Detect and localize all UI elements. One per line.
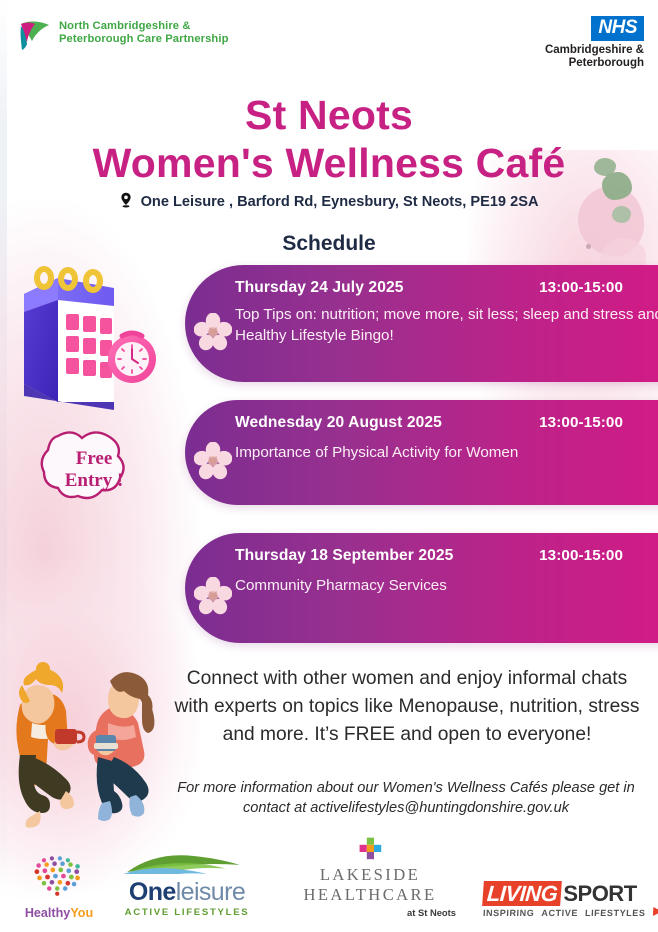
schedule-card-time: 13:00-15:00 xyxy=(539,414,623,431)
living-sport-word-a: LIVING xyxy=(482,881,562,906)
schedule-card-time: 13:00-15:00 xyxy=(539,279,623,296)
schedule-card-time: 13:00-15:00 xyxy=(539,547,623,564)
living-sport-word-b: SPORT xyxy=(563,882,636,905)
schedule-card[interactable]: Thursday 18 September 2025 13:00-15:00 C… xyxy=(185,533,658,643)
healthy-you-logo: HealthyYou xyxy=(16,854,102,920)
lakeside-healthcare-logo: LAKESIDE HEALTHCARE at St Neots xyxy=(270,836,470,918)
venue-address: One Leisure , Barford Rd, Eynesbury, St … xyxy=(0,192,658,212)
living-sport-tagline-1: INSPIRING xyxy=(483,908,535,918)
nhs-logo: NHS Cambridgeshire & Peterborough xyxy=(545,16,644,71)
lakeside-cross-icon xyxy=(358,847,382,864)
nhs-wordmark: NHS xyxy=(591,16,644,41)
schedule-card[interactable]: Thursday 24 July 2025 13:00-15:00 Top Ti… xyxy=(185,265,658,382)
schedule-card[interactable]: Wednesday 20 August 2025 13:00-15:00 Imp… xyxy=(185,400,658,505)
schedule-heading: Schedule xyxy=(0,232,658,256)
contact-paragraph: For more information about our Women's W… xyxy=(160,778,652,818)
schedule-card-header: Wednesday 20 August 2025 13:00-15:00 xyxy=(185,400,658,432)
schedule-card-header: Thursday 24 July 2025 13:00-15:00 xyxy=(185,265,658,297)
living-sport-logo: LIVING SPORT INSPIRING ACTIVE LIFESTYLES xyxy=(483,881,648,918)
venue-address-text: One Leisure , Barford Rd, Eynesbury, St … xyxy=(141,194,539,210)
title-line-1: St Neots xyxy=(0,92,658,138)
healthy-you-heart-icon xyxy=(28,887,90,904)
healthy-you-word-a: Healthy xyxy=(25,906,71,920)
living-sport-wordmark: LIVING SPORT xyxy=(483,881,648,906)
free-entry-text: Free Entry ! xyxy=(38,424,150,516)
schedule-card-description: Community Pharmacy Services xyxy=(185,565,658,596)
schedule-card-header: Thursday 18 September 2025 13:00-15:00 xyxy=(185,533,658,565)
schedule-card-description: Top Tips on: nutrition; move more, sit l… xyxy=(185,297,658,346)
oneleisure-word-a: One xyxy=(129,878,176,906)
free-entry-badge: Free Entry ! xyxy=(38,424,150,516)
oneleisure-wordmark: Oneleisure xyxy=(112,879,262,906)
two-women-chatting-illustration xyxy=(2,645,162,850)
partnership-logo-text: North Cambridgeshire & Peterborough Care… xyxy=(59,20,229,47)
location-pin-icon xyxy=(120,192,132,212)
poster-header: North Cambridgeshire & Peterborough Care… xyxy=(0,0,658,82)
living-sport-arrow-icon xyxy=(652,907,658,918)
page-title: St Neots Women's Wellness Café xyxy=(0,92,658,188)
living-sport-tagline: INSPIRING ACTIVE LIFESTYLES xyxy=(483,907,649,918)
lakeside-location-label: at St Neots xyxy=(270,907,470,918)
oneleisure-tagline: ACTIVE LIFESTYLES xyxy=(112,907,262,918)
living-sport-tagline-3: LIFESTYLES xyxy=(585,908,646,918)
schedule-card-date: Thursday 24 July 2025 xyxy=(235,279,404,297)
schedule-card-description: Importance of Physical Activity for Wome… xyxy=(185,432,658,463)
lakeside-wordmark: LAKESIDE HEALTHCARE xyxy=(270,865,470,905)
oneleisure-swoosh-icon xyxy=(121,861,253,878)
healthy-you-wordmark: HealthyYou xyxy=(16,906,102,920)
intro-paragraph: Connect with other women and enjoy infor… xyxy=(168,665,646,749)
healthy-you-word-b: You xyxy=(70,906,93,920)
free-entry-line-1: Free xyxy=(76,448,113,470)
calendar-clock-illustration xyxy=(18,262,170,412)
free-entry-line-2: Entry ! xyxy=(65,470,124,492)
schedule-card-date: Thursday 18 September 2025 xyxy=(235,547,453,565)
partnership-logo: North Cambridgeshire & Peterborough Care… xyxy=(18,20,229,52)
oneleisure-logo: Oneleisure ACTIVE LIFESTYLES xyxy=(112,854,262,918)
poster-root: North Cambridgeshire & Peterborough Care… xyxy=(0,0,658,932)
oneleisure-word-b: leisure xyxy=(176,878,245,906)
partnership-swoosh-icon xyxy=(18,20,52,52)
poster-footer: HealthyYou Oneleisure ACTIVE LIFESTYLES xyxy=(0,852,658,932)
schedule-card-date: Wednesday 20 August 2025 xyxy=(235,414,442,432)
title-line-2: Women's Wellness Café xyxy=(0,138,658,188)
living-sport-tagline-2: ACTIVE xyxy=(541,908,578,918)
nhs-region-label: Cambridgeshire & Peterborough xyxy=(545,44,644,71)
